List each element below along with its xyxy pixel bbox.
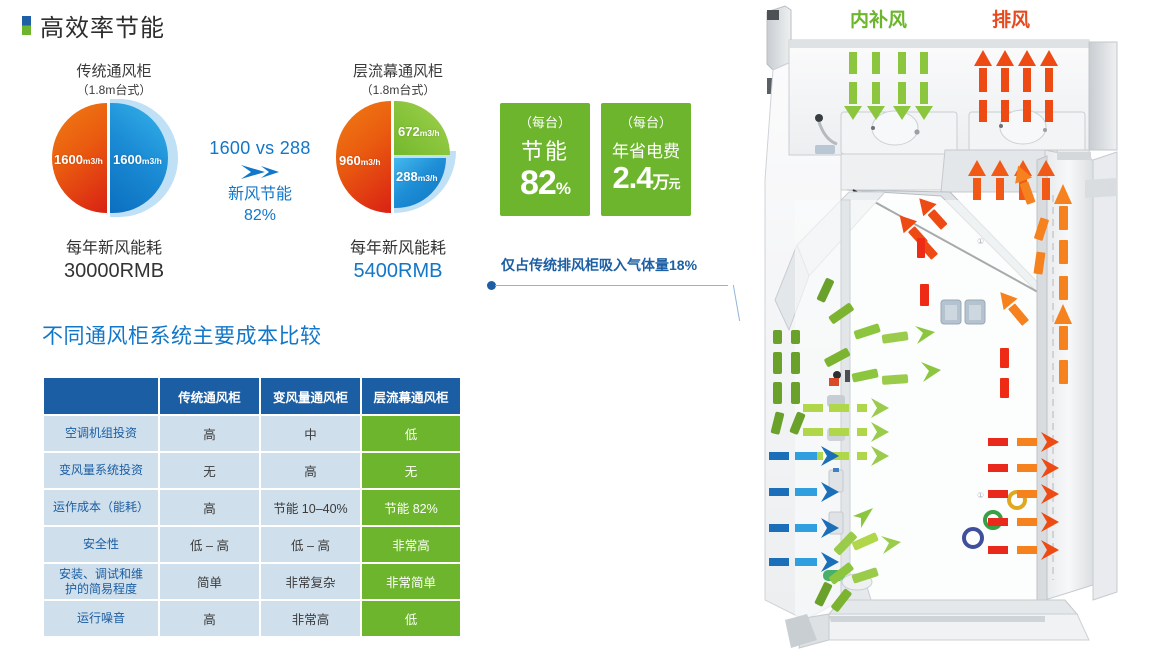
pie-left-subtitle: （1.8m台式）: [34, 81, 194, 99]
table-col-header-0: [44, 378, 158, 414]
table-cell: 高: [160, 601, 259, 636]
fan-housing-left: [841, 111, 957, 154]
table-row: 运作成本（能耗） 高 节能 10–40% 节能 82%: [44, 490, 460, 525]
table-cell-highlight: 无: [362, 453, 460, 488]
comparison-block: 1600 vs 288 新风节能 82%: [196, 138, 324, 226]
table-cell: 无: [160, 453, 259, 488]
pie-left-title: 传统通风柜: [34, 62, 194, 81]
pie-left-label-b: 1600m3/h: [113, 152, 162, 167]
table-row: 安装、调试和维 护的简易程度 简单 非常复杂 非常简单: [44, 564, 460, 599]
compare-ratio-text: 1600 vs 288: [196, 138, 324, 159]
table-cell: 中: [261, 416, 360, 451]
pie-right-foot-label: 每年新风能耗: [318, 237, 478, 260]
table-cell: 高: [160, 416, 259, 451]
poster-root: 高效率节能 传统通风柜 （1.8m台式） 1600m3/h 1600m3/h 每…: [0, 0, 1149, 660]
table-row-head: 安全性: [44, 527, 158, 562]
table-row: 安全性 低 – 高 低 – 高 非常高: [44, 527, 460, 562]
fume-hood-illustration: ① ① 内补风 排风 室内 新风: [745, 0, 1149, 660]
table-row: 运行噪音 高 非常高 低: [44, 601, 460, 636]
svg-text:①: ①: [977, 237, 984, 246]
table-col-header-3: 层流幕通风柜: [362, 378, 460, 414]
arrow-right-icon: [239, 163, 281, 181]
table-row-head: 安装、调试和维 护的简易程度: [44, 564, 158, 599]
pie-left-foot-value: 30000RMB: [34, 260, 194, 283]
table-cell: 简单: [160, 564, 259, 599]
pie-left-label-a: 1600m3/h: [54, 152, 103, 167]
pie-right-label-c: 288m3/h: [396, 169, 438, 184]
table-row: 空调机组投资 高 中 低: [44, 416, 460, 451]
badge-annual-savings: （每台） 年省电费 2.4万元: [601, 103, 691, 216]
table-cell-highlight: 非常高: [362, 527, 460, 562]
pie-right-subtitle: （1.8m台式）: [318, 81, 478, 99]
pie-block-traditional: 传统通风柜 （1.8m台式） 1600m3/h 1600m3/h 每年新风能耗 …: [34, 62, 194, 283]
pie-right-foot-value: 5400RMB: [318, 260, 478, 283]
callout-leader-line: [495, 285, 728, 286]
page-title: 高效率节能: [40, 8, 165, 43]
table-row-head: 运行噪音: [44, 601, 158, 636]
table-row: 变风量系统投资 无 高 无: [44, 453, 460, 488]
pie-right-footer: 每年新风能耗 5400RMB: [318, 237, 478, 283]
badge2-label: 年省电费: [601, 137, 691, 162]
table-cell: 高: [160, 490, 259, 525]
badge1-label: 节能: [500, 134, 590, 166]
table-cell: 低 – 高: [160, 527, 259, 562]
table-row-head-line2: 护的简易程度: [44, 582, 158, 597]
callout-leader-elbow: [721, 285, 740, 321]
label-internal-supply: 内补风: [850, 8, 907, 31]
label-exhaust: 排风: [992, 8, 1030, 31]
callout-text: 仅占传统排风柜吸入气体量18%: [501, 255, 697, 275]
pie-left-footer: 每年新风能耗 30000RMB: [34, 237, 194, 283]
table-col-header-1: 传统通风柜: [160, 378, 259, 414]
compare-saving-value: 82%: [196, 205, 324, 226]
table-col-header-2: 变风量通风柜: [261, 378, 360, 414]
table-cell-highlight: 低: [362, 601, 460, 636]
pie-chart-traditional: 1600m3/h 1600m3/h: [44, 99, 184, 219]
badge-energy-saving: （每台） 节能 82%: [500, 103, 590, 216]
pie-right-label-b: 672m3/h: [398, 124, 440, 139]
table-row-head: 空调机组投资: [44, 416, 158, 451]
table-cell: 高: [261, 453, 360, 488]
table-cell-highlight: 非常简单: [362, 564, 460, 599]
table-header-row: 传统通风柜 变风量通风柜 层流幕通风柜: [44, 378, 460, 414]
table-cell-highlight: 低: [362, 416, 460, 451]
pie-block-laminar: 层流幕通风柜 （1.8m台式） 960m3/h 672m3/h 288m3/h …: [318, 62, 478, 283]
table-cell: 节能 10–40%: [261, 490, 360, 525]
table-row-head: 变风量系统投资: [44, 453, 158, 488]
svg-text:①: ①: [977, 491, 984, 500]
badge1-value: 82%: [500, 164, 590, 203]
cost-comparison-table: 传统通风柜 变风量通风柜 层流幕通风柜 空调机组投资 高 中 低 变风量系统投资…: [42, 376, 462, 638]
table-title: 不同通风柜系统主要成本比较: [42, 320, 322, 350]
compare-saving-label: 新风节能: [196, 184, 324, 205]
badge1-tag: （每台）: [500, 112, 590, 131]
page-header: 高效率节能: [22, 8, 165, 43]
pie-left-foot-label: 每年新风能耗: [34, 237, 194, 260]
pie-right-label-a: 960m3/h: [339, 153, 381, 168]
badge2-value: 2.4万元: [601, 160, 691, 196]
table-cell: 非常复杂: [261, 564, 360, 599]
pie-chart-laminar: 960m3/h 672m3/h 288m3/h: [332, 99, 464, 219]
table-cell: 非常高: [261, 601, 360, 636]
table-cell-highlight: 节能 82%: [362, 490, 460, 525]
table-row-head: 运作成本（能耗）: [44, 490, 158, 525]
bullet-marker-icon: [22, 16, 31, 35]
pie-right-title: 层流幕通风柜: [318, 62, 478, 81]
badge2-tag: （每台）: [601, 112, 691, 131]
table-cell: 低 – 高: [261, 527, 360, 562]
table-row-head-line1: 安装、调试和维: [44, 567, 158, 582]
